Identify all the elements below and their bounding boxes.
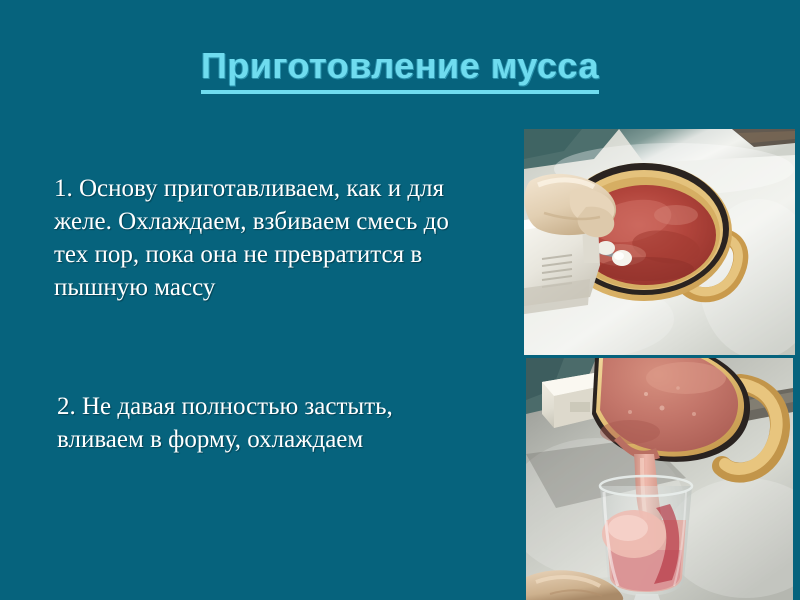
page-title: Приготовление мусса (0, 44, 800, 94)
photo-pouring-mousse-graphic (526, 358, 793, 600)
photo-pouring-mousse (526, 358, 793, 600)
step-1-paragraph: 1. Основу приготавливаем, как и для желе… (54, 172, 474, 304)
photo-whipping-mousse (524, 129, 795, 355)
step-2-paragraph: 2. Не давая полностью застыть, вливаем в… (57, 390, 457, 456)
page-title-text: Приготовление мусса (201, 44, 599, 94)
serving-glass (600, 476, 692, 600)
presentation-slide: Приготовление мусса 1. Основу приготавли… (0, 0, 800, 600)
photo-whipping-mousse-graphic (524, 129, 795, 355)
